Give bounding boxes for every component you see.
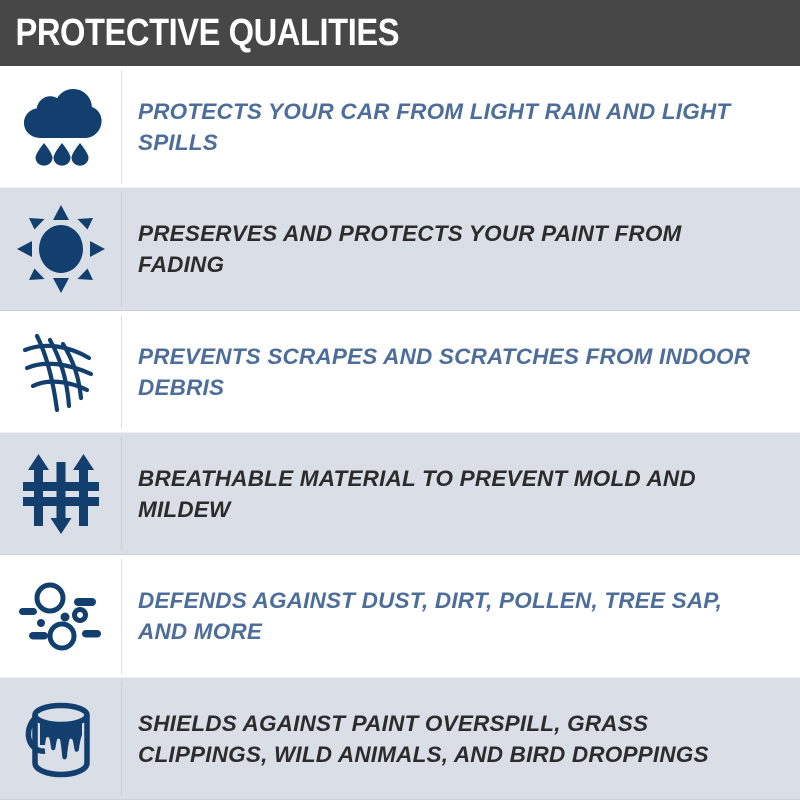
protective-qualities-infographic: PROTECTIVE QUALITIES PROTECTS YOUR CAR F… — [0, 0, 800, 800]
header-bar: PROTECTIVE QUALITIES — [0, 0, 800, 66]
feature-row-dust: DEFENDS AGAINST DUST, DIRT, POLLEN, TREE… — [0, 555, 800, 677]
text-cell: BREATHABLE MATERIAL TO PREVENT MOLD AND … — [122, 433, 800, 555]
feature-text: BREATHABLE MATERIAL TO PREVENT MOLD AND … — [138, 463, 774, 525]
icon-cell — [0, 678, 122, 800]
rain-cloud-icon — [17, 83, 105, 171]
breathable-airflow-arrows-icon — [17, 450, 105, 538]
feature-text: SHIELDS AGAINST PAINT OVERSPILL, GRASS C… — [138, 708, 774, 770]
feature-list: PROTECTS YOUR CAR FROM LIGHT RAIN AND LI… — [0, 66, 800, 800]
feature-text: PREVENTS SCRAPES AND SCRATCHES FROM INDO… — [138, 341, 774, 403]
icon-cell — [0, 66, 122, 188]
feature-row-breathable: BREATHABLE MATERIAL TO PREVENT MOLD AND … — [0, 433, 800, 555]
text-cell: PREVENTS SCRAPES AND SCRATCHES FROM INDO… — [122, 311, 800, 433]
feature-row-sun: PRESERVES AND PROTECTS YOUR PAINT FROM F… — [0, 188, 800, 310]
text-cell: PROTECTS YOUR CAR FROM LIGHT RAIN AND LI… — [122, 66, 800, 188]
paint-can-icon — [17, 695, 105, 783]
text-cell: DEFENDS AGAINST DUST, DIRT, POLLEN, TREE… — [122, 555, 800, 677]
text-cell: SHIELDS AGAINST PAINT OVERSPILL, GRASS C… — [122, 678, 800, 800]
icon-cell — [0, 555, 122, 677]
sun-icon — [17, 205, 105, 293]
icon-cell — [0, 311, 122, 433]
feature-row-rain: PROTECTS YOUR CAR FROM LIGHT RAIN AND LI… — [0, 66, 800, 188]
icon-cell — [0, 433, 122, 555]
icon-cell — [0, 188, 122, 310]
text-cell: PRESERVES AND PROTECTS YOUR PAINT FROM F… — [122, 188, 800, 310]
page-title: PROTECTIVE QUALITIES — [0, 14, 399, 52]
feature-text: DEFENDS AGAINST DUST, DIRT, POLLEN, TREE… — [138, 585, 774, 647]
scratches-crosshatch-icon — [17, 328, 105, 416]
feature-text: PRESERVES AND PROTECTS YOUR PAINT FROM F… — [138, 218, 774, 280]
feature-text: PROTECTS YOUR CAR FROM LIGHT RAIN AND LI… — [138, 96, 774, 158]
feature-row-paint: SHIELDS AGAINST PAINT OVERSPILL, GRASS C… — [0, 678, 800, 800]
dust-particles-icon — [17, 572, 105, 660]
feature-row-scratches: PREVENTS SCRAPES AND SCRATCHES FROM INDO… — [0, 311, 800, 433]
